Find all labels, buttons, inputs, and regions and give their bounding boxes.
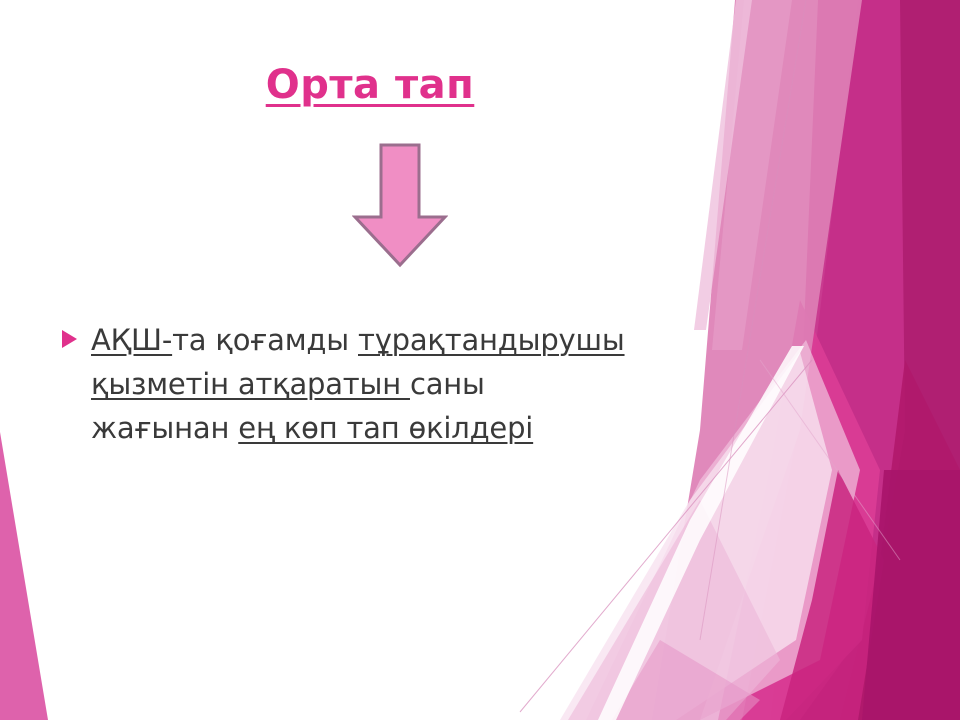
decor-pale-facet-bottom <box>612 640 760 720</box>
bullet-item-text: АҚШ-та қоғамды тұрақтандырушы қызметін а… <box>91 318 752 450</box>
presentation-slide: Орта тап АҚШ-та қоғамды тұрақтандырушы қ… <box>0 0 960 720</box>
body-line-1: АҚШ-та қоғамды тұрақтандырушы <box>91 318 752 362</box>
body-seg-1-1: АҚШ- <box>91 323 172 357</box>
down-arrow-icon <box>352 143 448 268</box>
body-seg-2-1: қызметін атқаратын <box>91 367 410 401</box>
decor-deep-wedge-bottom <box>780 470 884 720</box>
triangle-bullet-icon <box>62 330 77 348</box>
page-title: Орта тап <box>266 62 475 108</box>
decor-bottom-left-wedge <box>0 432 48 720</box>
decor-hairline-diagonal-3 <box>760 360 900 560</box>
body-line-3: жағынан ең көп тап өкілдері <box>91 406 752 450</box>
body-seg-3-1: жағынан <box>91 411 238 445</box>
body-seg-1-3: тұрақтандырушы <box>358 323 625 357</box>
decor-hotpink-facet-2 <box>840 360 960 720</box>
body-seg-1-2: та қоғамды <box>172 323 358 357</box>
body-seg-3-2: ең көп тап өкілдері <box>238 411 533 445</box>
decor-pale-sliver-top <box>694 0 752 330</box>
decor-hotpink-facet <box>742 0 905 720</box>
body-text-container: АҚШ-та қоғамды тұрақтандырушы қызметін а… <box>62 318 752 450</box>
decor-pale-facet-lower-left <box>568 500 780 720</box>
body-line-2: қызметін атқаратын саны <box>91 362 752 406</box>
title-container: Орта тап <box>0 62 740 108</box>
body-seg-2-2: саны <box>410 367 485 401</box>
decor-right-dark-column <box>770 0 960 720</box>
decor-magenta-wedge-bottom-right <box>862 470 960 720</box>
decor-lightpink-band <box>712 0 792 350</box>
